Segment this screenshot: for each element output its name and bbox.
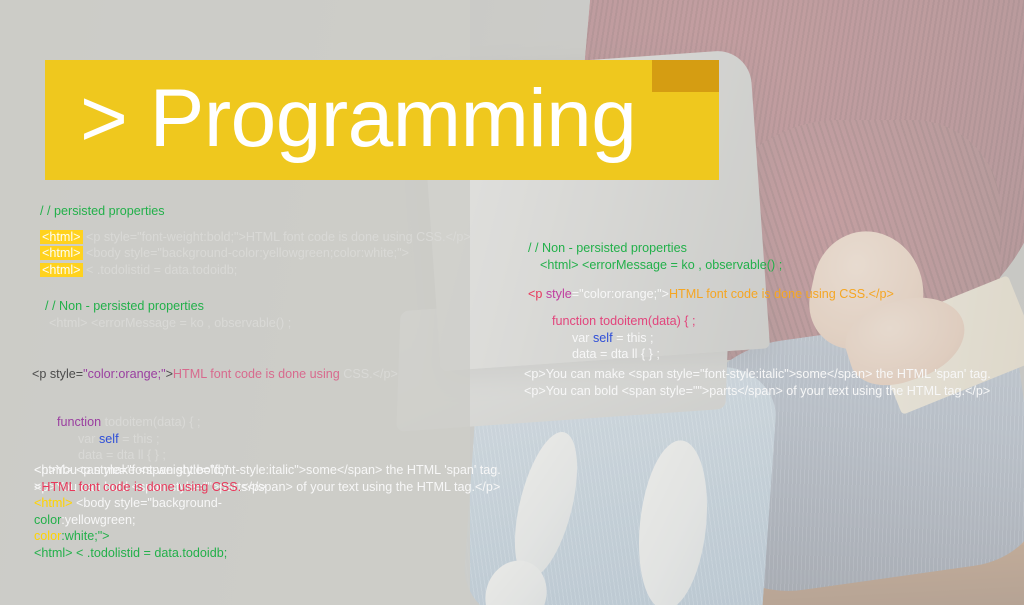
code-block-left-nonpersisted: / / Non - persisted properties <html> <e… bbox=[32, 298, 291, 331]
code-keyword-function: function bbox=[57, 415, 101, 429]
code-line: <html> <body style="background-color:yel… bbox=[40, 245, 471, 262]
code-keyword-self: self bbox=[593, 331, 613, 345]
code-line: data = dta ll { } ; bbox=[528, 346, 696, 363]
code-line: <html> < .todolistid = data.todoidb; bbox=[40, 262, 471, 279]
css-value: :yellowgreen; bbox=[61, 513, 135, 527]
code-block-right-function: function todoitem(data) { ; var self = t… bbox=[528, 313, 696, 363]
code-block-right-span-paragraphs: <p>You can make <span style="font-style:… bbox=[524, 366, 991, 399]
code-line: <html> <body style="background- bbox=[34, 495, 266, 512]
code-function-name: todoitem(data) { ; bbox=[101, 415, 200, 429]
code-line: >HTML font code is done using CSS.</p> bbox=[34, 479, 266, 496]
code-line: <html> <errorMessage = ko , observable()… bbox=[528, 257, 782, 274]
code-line: function todoitem(data) { ; bbox=[32, 414, 201, 431]
code-line: var self = this ; bbox=[32, 431, 201, 448]
html-tag-highlight: <html> bbox=[40, 246, 83, 260]
code-line: <p>You can make <span style="font-style:… bbox=[524, 366, 991, 383]
code-keyword-var: var bbox=[572, 331, 593, 345]
code-comment: / / persisted properties bbox=[40, 203, 471, 220]
code-keyword-self: self bbox=[99, 432, 119, 446]
html-tag: <html> bbox=[34, 496, 73, 510]
code-line: <html> <p style="font-weight:bold;" bbox=[34, 462, 266, 479]
code-tail: </p> bbox=[241, 480, 266, 494]
code-line: <html> < .todolistid = data.todoidb; bbox=[34, 545, 266, 562]
code-text: HTML font code is done using CSS. bbox=[41, 480, 241, 494]
code-text: HTML font code is done using bbox=[173, 367, 343, 381]
code-tag-open: <p bbox=[528, 287, 546, 301]
html-tag-highlight: <html> bbox=[40, 230, 83, 244]
code-attribute: "color:orange;" bbox=[83, 367, 165, 381]
code-text: = this ; bbox=[613, 331, 654, 345]
code-tail: CSS.</p> bbox=[343, 367, 398, 381]
code-text: = this ; bbox=[119, 432, 160, 446]
code-text: <p style="font-weight:bold;">HTML font c… bbox=[83, 230, 471, 244]
code-block-right-nonpersisted: / / Non - persisted properties <html> <e… bbox=[528, 240, 782, 273]
code-line: function todoitem(data) { ; bbox=[528, 313, 696, 330]
code-line: <p style="color:orange;">HTML font code … bbox=[32, 366, 398, 383]
code-attribute-name: style bbox=[546, 287, 572, 301]
slide-canvas: > Programming / / persisted properties <… bbox=[0, 0, 1024, 605]
code-keyword-function: function bbox=[552, 314, 596, 328]
code-tag-open: <p style= bbox=[32, 367, 83, 381]
code-attribute-value: ="color:orange;"> bbox=[572, 287, 669, 301]
code-block-right-orange-paragraph: <p style="color:orange;">HTML font code … bbox=[528, 286, 894, 303]
code-line: <p style="color:orange;">HTML font code … bbox=[528, 286, 894, 303]
code-comment: / / Non - persisted properties bbox=[528, 240, 782, 257]
code-text: < .todolistid = data.todoidb; bbox=[83, 263, 238, 277]
code-block-left-function: function todoitem(data) { ; var self = t… bbox=[32, 414, 201, 464]
code-block-left-orange-paragraph: <p style="color:orange;">HTML font code … bbox=[32, 366, 398, 383]
code-line: color:white;"> bbox=[34, 528, 266, 545]
css-property: color bbox=[34, 513, 61, 527]
page-title: > Programming bbox=[80, 59, 740, 179]
css-value: :white;"> bbox=[61, 529, 109, 543]
code-text: HTML font code is done using CSS.</p> bbox=[669, 287, 894, 301]
code-line: <html> <p style="font-weight:bold;">HTML… bbox=[40, 229, 471, 246]
code-text: <body style="background- bbox=[73, 496, 222, 510]
code-line: <p>You can bold <span style="">parts</sp… bbox=[524, 383, 991, 400]
code-function-name: todoitem(data) { ; bbox=[596, 314, 695, 328]
code-block-left-colored-html: <html> <p style="font-weight:bold;" >HTM… bbox=[34, 462, 266, 561]
css-property: color bbox=[34, 529, 61, 543]
code-keyword-var: var bbox=[78, 432, 99, 446]
code-block-left-persisted: / / persisted properties <html> <p style… bbox=[40, 203, 471, 278]
code-gt: > bbox=[166, 367, 173, 381]
code-line: color:yellowgreen; bbox=[34, 512, 266, 529]
code-comment: / / Non - persisted properties bbox=[32, 298, 291, 315]
code-line: <html> <errorMessage = ko , observable()… bbox=[32, 315, 291, 332]
code-text: <body style="background-color:yellowgree… bbox=[83, 246, 409, 260]
html-tag-highlight: <html> bbox=[40, 263, 83, 277]
code-line: var self = this ; bbox=[528, 330, 696, 347]
